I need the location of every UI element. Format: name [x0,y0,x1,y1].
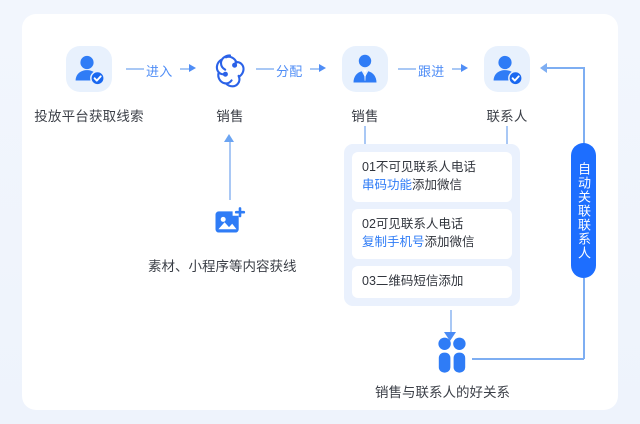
content-source-label: 素材、小程序等内容获线 [148,255,297,275]
source-connector-arrow [224,134,234,142]
node-sales-system[interactable] [210,50,250,95]
method-card-detail: 复制手机号添加微信 [362,233,502,251]
edge-line-enter-left [126,68,144,70]
edge-label-assign: 分配 [276,61,303,80]
method-card-detail-rest: 添加微信 [425,235,475,249]
content-source-icon-wrapper[interactable] [210,205,250,250]
outcome-label: 销售与联系人的好关系 [375,381,510,401]
method-card-detail-rest: 添加微信 [412,178,462,192]
cards-connector-from-sales [364,126,366,146]
node-label-contact: 联系人 [479,105,535,125]
feedback-line-bottom [472,358,584,360]
cards-connector-from-contact [506,126,508,146]
diagram-canvas: 投放平台获取线索 进入 销售 分配 [0,0,640,424]
method-card-title: 02可见联系人电话 [362,216,502,233]
method-card[interactable]: 02可见联系人电话 复制手机号添加微信 [352,209,512,259]
feedback-line-right-upper [583,67,585,145]
method-card-group: 01不可见联系人电话 串码功能添加微信 02可见联系人电话 复制手机号添加微信 … [344,144,520,306]
swirl-loop-icon [210,77,250,94]
auto-link-pill-label: 自动关联联系人 [577,162,590,260]
method-card-detail: 串码功能添加微信 [362,176,502,194]
node-lead-platform[interactable] [66,46,112,92]
node-label-sales-system: 销售 [198,105,262,125]
node-label-sales-person: 销售 [333,105,397,125]
edge-label-enter: 进入 [146,61,173,80]
edge-arrow-assign [319,64,326,72]
person-check-icon [484,46,530,92]
node-contact[interactable] [484,46,530,92]
edge-arrow-enter [189,64,196,72]
method-card[interactable]: 01不可见联系人电话 串码功能添加微信 [352,152,512,202]
node-label-lead-platform: 投放平台获取线索 [22,105,156,125]
edge-label-followup: 跟进 [418,61,445,80]
edge-line-assign-left [256,68,274,70]
image-add-icon [210,232,250,249]
person-check-icon [66,46,112,92]
method-card-title: 01不可见联系人电话 [362,159,502,176]
node-sales-person[interactable] [342,46,388,92]
auto-link-pill[interactable]: 自动关联联系人 [571,143,596,278]
edge-line-followup-left [398,68,416,70]
feedback-line-top [546,67,584,69]
method-card[interactable]: 03二维码短信添加 [352,266,512,298]
feedback-line-right-lower [583,278,585,359]
person-suit-icon [342,46,388,92]
edge-arrow-followup [461,64,468,72]
outcome-connector-line [450,310,452,334]
method-card-highlight: 串码功能 [362,178,412,192]
source-connector-line [229,142,231,200]
method-card-highlight: 复制手机号 [362,235,425,249]
outcome-icon-wrapper[interactable] [432,336,472,381]
method-card-title: 03二维码短信添加 [362,273,502,290]
two-people-icon [432,363,472,380]
